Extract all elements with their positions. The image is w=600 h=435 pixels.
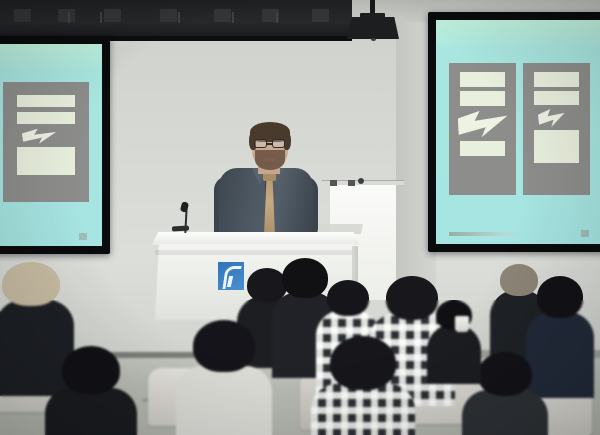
speaker-glasses-lens-right xyxy=(272,139,285,148)
ceiling-vent-slot xyxy=(214,9,231,22)
ceiling-rail-tick xyxy=(276,12,278,23)
ceiling-vent-slot xyxy=(14,9,31,22)
slide-bar xyxy=(17,95,74,107)
audience-member-body xyxy=(427,324,481,384)
display-left[interactable] xyxy=(0,36,110,254)
slide-footer-text xyxy=(449,232,524,236)
slide-left xyxy=(0,44,102,246)
flip-chart-knob xyxy=(358,178,364,184)
audience-member-head xyxy=(478,352,532,396)
speaker-glasses-bridge xyxy=(267,143,272,145)
slide-right xyxy=(436,20,600,244)
display-left-screen xyxy=(0,44,102,246)
speaker-hair-side-right xyxy=(284,133,291,150)
slide-bar xyxy=(460,91,504,106)
slide-panel-left xyxy=(449,63,516,195)
slide-page-indicator xyxy=(79,233,87,240)
ceiling-rail-tick xyxy=(68,12,70,23)
slide-panel-right xyxy=(523,63,590,195)
podium-top xyxy=(152,232,360,245)
audience-member-body xyxy=(0,300,74,396)
display-right-screen xyxy=(436,20,600,244)
audience-member-body xyxy=(45,388,137,435)
slide-bar xyxy=(534,91,578,106)
display-right[interactable] xyxy=(428,12,600,252)
lightning-bolt-icon xyxy=(22,128,56,144)
audience-member-head xyxy=(2,262,60,306)
audience-member-head xyxy=(62,346,120,394)
slide-bar xyxy=(460,141,504,156)
slide-block xyxy=(534,130,578,164)
ceiling-vent-slot xyxy=(58,9,75,22)
slide-page-indicator xyxy=(581,230,589,237)
slide-footer-text xyxy=(0,235,4,239)
podium-shadow xyxy=(155,250,357,255)
flip-chart-clip xyxy=(330,180,337,186)
speaker-glasses-lens-left xyxy=(254,139,267,148)
audience-member-head xyxy=(330,336,396,390)
slide-block xyxy=(17,147,74,175)
slide-bar xyxy=(534,72,578,87)
audience-member-head xyxy=(537,276,583,318)
lightning-bolt-icon xyxy=(538,108,565,127)
slide-bar xyxy=(17,112,74,124)
audience-member-head xyxy=(500,264,538,296)
ceiling-vent-slot xyxy=(160,9,177,22)
flip-chart-clip xyxy=(348,180,355,186)
ceiling-vent-slot xyxy=(312,9,329,22)
lecture-hall-scene xyxy=(0,0,600,435)
lightning-bolt-icon xyxy=(458,109,508,138)
projector-icon xyxy=(347,17,399,39)
slide-bar xyxy=(460,72,504,87)
audience-member-body xyxy=(462,390,548,435)
speaker-mouth xyxy=(265,158,275,161)
audience-member-body xyxy=(526,312,594,398)
audience-member-body xyxy=(176,366,272,435)
audience-member-head xyxy=(282,258,328,298)
ceiling-bulkhead xyxy=(0,0,352,40)
audience-member-head xyxy=(193,320,255,372)
audience-member-body xyxy=(311,384,415,435)
audience-member-head xyxy=(327,280,369,316)
coffee-cup xyxy=(455,316,469,332)
ceiling-rail-tick xyxy=(178,12,180,23)
ceiling-rail-tick xyxy=(232,12,234,23)
ceiling-rail-tick xyxy=(100,12,102,23)
slide-panel-right xyxy=(3,82,90,201)
projector-lens xyxy=(371,38,376,41)
ceiling-vent-slot xyxy=(104,9,121,22)
audience-member-head xyxy=(386,276,438,320)
